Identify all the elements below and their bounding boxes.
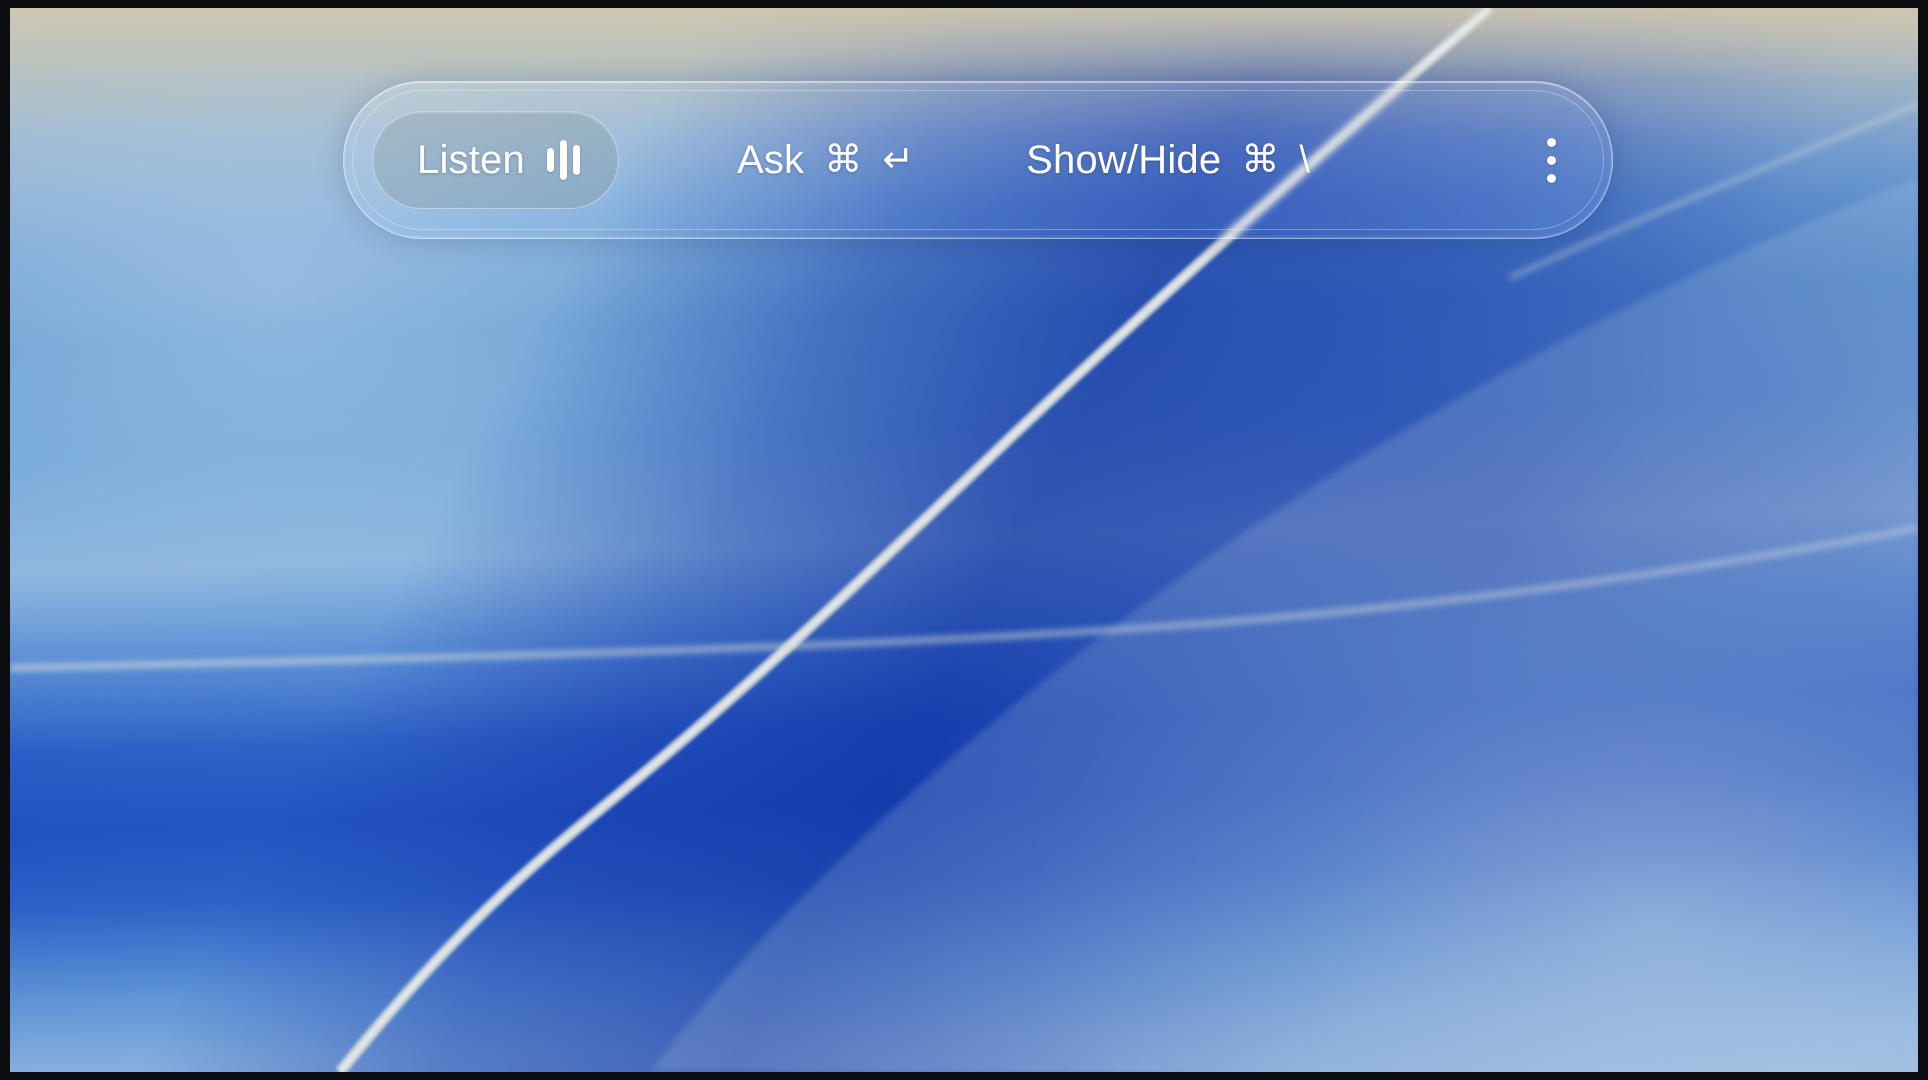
desktop-wallpaper: Listen Ask ⌘ ↵ Show/Hide ⌘ \	[10, 8, 1918, 1072]
command-key-icon: ⌘	[824, 141, 862, 179]
show-hide-label: Show/Hide	[1026, 138, 1221, 183]
return-key-icon: ↵	[882, 141, 914, 179]
backslash-key-icon: \	[1299, 141, 1310, 179]
listen-button[interactable]: Listen	[372, 111, 619, 209]
screen-frame: Listen Ask ⌘ ↵ Show/Hide ⌘ \	[0, 0, 1928, 1080]
waveform-icon	[547, 140, 580, 180]
ask-button[interactable]: Ask ⌘ ↵	[737, 138, 914, 183]
show-hide-button[interactable]: Show/Hide ⌘ \	[1026, 138, 1310, 183]
more-vertical-icon[interactable]	[1531, 124, 1572, 197]
command-key-icon: ⌘	[1241, 141, 1279, 179]
ask-label: Ask	[737, 138, 804, 183]
floating-toolbar[interactable]: Listen Ask ⌘ ↵ Show/Hide ⌘ \	[343, 81, 1613, 239]
listen-label: Listen	[417, 138, 525, 183]
